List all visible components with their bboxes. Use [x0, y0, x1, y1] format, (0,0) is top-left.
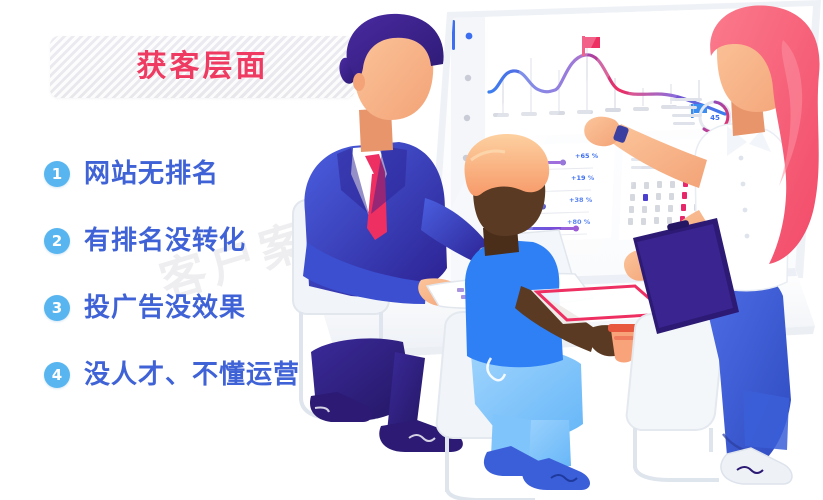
list-item-label: 有排名没转化: [84, 228, 246, 254]
list-item-number: 1: [44, 161, 70, 187]
sidebar-dot[interactable]: [465, 75, 471, 81]
seated-shoe-front: [522, 458, 590, 490]
scene-illustration: 45 +65 %: [275, 0, 823, 500]
list-item-number: 3: [44, 295, 70, 321]
sidebar-dot[interactable]: [464, 115, 470, 121]
chair-right: [627, 314, 724, 480]
progress-row-label: +65 %: [575, 152, 599, 160]
illustration-page: 获客层面 客户案例 1 网站无排名 2 有排名没转化 3 投广告没效果 4 没人…: [0, 0, 823, 500]
gauge-value: 45: [710, 114, 720, 122]
sidebar-dot-active[interactable]: [466, 33, 473, 40]
list-item-label: 没人才、不懂运营: [84, 362, 300, 388]
list-item-number: 2: [44, 228, 70, 254]
woman-shoe: [721, 448, 792, 484]
list-item-label: 网站无排名: [84, 161, 219, 187]
page-title: 获客层面: [137, 52, 269, 82]
list-item-label: 投广告没效果: [84, 295, 246, 321]
list-item-number: 4: [44, 362, 70, 388]
